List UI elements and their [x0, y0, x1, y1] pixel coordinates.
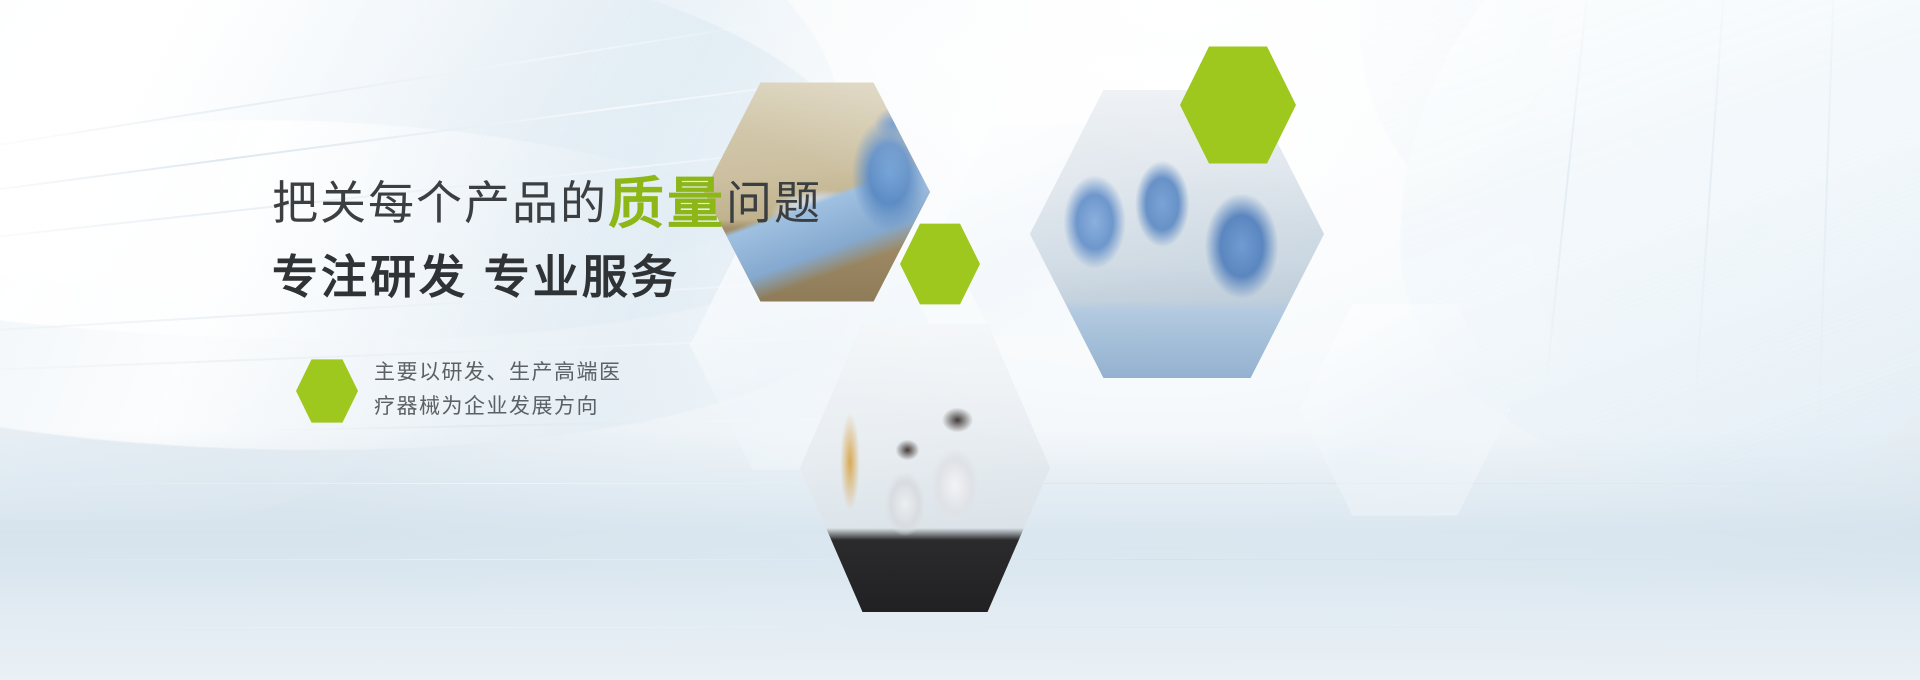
headline-highlight-liang: 量 [667, 172, 726, 235]
green-hexagon-bullet [296, 358, 358, 424]
headline-suffix-text: 问题 [726, 177, 822, 229]
right-fin-2 [1530, 0, 1920, 500]
architecture-edge-3 [0, 12, 829, 152]
hero-banner: 把关每个产品的质量问题 专注研发 专业服务 主要以研发、生产高端医 疗器械为企业… [0, 0, 1920, 680]
floor-line-3 [0, 627, 1920, 628]
subtitle-line-2: 疗器械为企业发展方向 [374, 390, 622, 424]
right-fin-edge-2 [1694, 0, 1729, 409]
headline-line-1: 把关每个产品的质量问题 [272, 176, 822, 232]
ghost-hexagon-c [1300, 300, 1510, 520]
right-fin-3 [1470, 0, 1800, 310]
right-fin-4 [1360, 0, 1620, 210]
right-fin-edge-3 [1817, 0, 1837, 440]
headline-line-2: 专注研发 专业服务 [272, 254, 822, 300]
subtitle-line-1: 主要以研发、生产高端医 [374, 356, 622, 390]
headline-group: 把关每个产品的质量问题 专注研发 专业服务 [272, 176, 822, 300]
headline-highlight-zhi: 质 [608, 172, 667, 235]
subtitle-group: 主要以研发、生产高端医 疗器械为企业发展方向 [374, 356, 622, 424]
headline-prefix-text: 把关每个产品的 [272, 177, 608, 229]
right-fin-edge-1 [1544, 0, 1591, 399]
